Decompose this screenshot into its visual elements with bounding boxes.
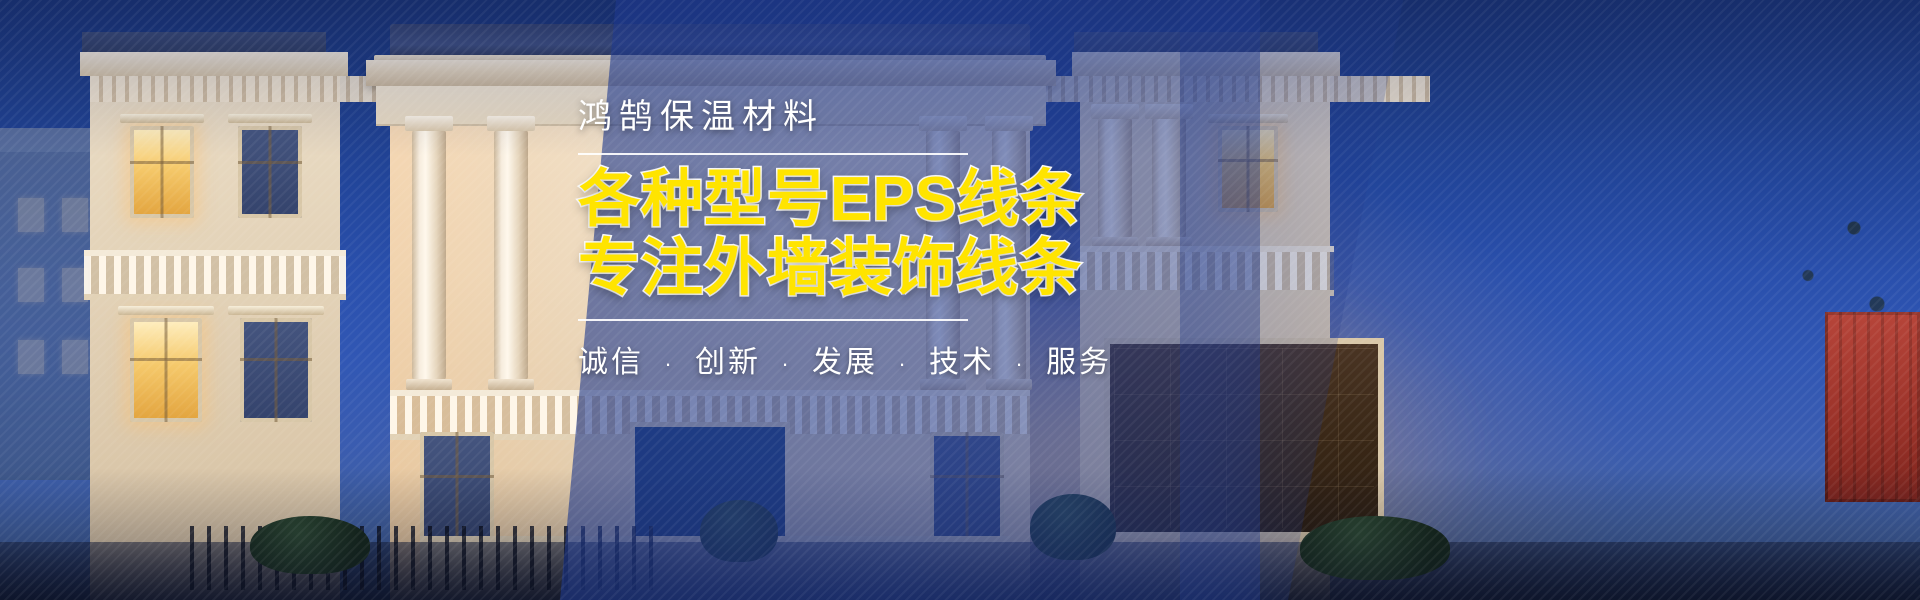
window-mullion: [161, 126, 164, 218]
main-cornice: [366, 60, 1056, 86]
divider-top: [578, 153, 968, 155]
balustrade: [84, 250, 346, 300]
window-mullion: [930, 475, 1004, 478]
window-mullion: [269, 126, 272, 218]
window: [238, 126, 302, 218]
tagline-item: 服务: [1046, 346, 1112, 379]
window-hood: [228, 306, 324, 315]
distant-window: [18, 340, 44, 374]
window-hood: [118, 306, 214, 315]
window: [240, 318, 312, 422]
distant-window: [62, 340, 88, 374]
divider-bottom: [578, 319, 968, 321]
window-hood: [120, 114, 204, 123]
window-mullion: [275, 318, 278, 422]
right-wing-cornice: [1072, 52, 1340, 76]
distant-window: [62, 198, 88, 232]
left-wing-cornice: [80, 52, 348, 76]
headline-line-1: 各种型号EPS线条: [578, 165, 1278, 234]
window: [130, 126, 194, 218]
tagline-separator: ·: [781, 351, 791, 376]
tagline-separator: ·: [1015, 351, 1025, 376]
window-mullion: [165, 318, 168, 422]
left-wing-roof-cap: [82, 32, 326, 54]
tagline: 诚信 · 创新 · 发展 · 技术 · 服务: [578, 337, 1278, 381]
window-hood: [228, 114, 312, 123]
window-mullion: [130, 358, 202, 361]
main-roof: [390, 24, 1030, 58]
tagline-separator: ·: [664, 351, 674, 376]
tagline-item: 创新: [695, 346, 761, 379]
garden-shrub: [1030, 494, 1116, 560]
tree-branch: [1670, 190, 1900, 380]
window-mullion: [420, 475, 494, 478]
garden-shrub: [1300, 516, 1450, 580]
portico-column: [412, 130, 446, 380]
window: [930, 432, 1004, 544]
headline-line-2: 专注外墙装饰线条: [578, 234, 1278, 303]
banner-text-block: 鸿鹄保温材料 各种型号EPS线条 专注外墙装饰线条 诚信 · 创新 · 发展 ·…: [578, 96, 1278, 381]
tagline-item: 发展: [812, 346, 878, 379]
window-mullion: [240, 358, 312, 361]
window: [130, 318, 202, 422]
tagline-item: 诚信: [578, 346, 644, 379]
tagline-separator: ·: [898, 351, 908, 376]
window-mullion: [238, 161, 302, 164]
window-mullion: [130, 161, 194, 164]
portico-column: [494, 130, 528, 380]
promo-banner: 鸿鹄保温材料 各种型号EPS线条 专注外墙装饰线条 诚信 · 创新 · 发展 ·…: [0, 0, 1920, 600]
window-mullion: [966, 432, 969, 544]
distant-window: [18, 198, 44, 232]
right-wing-roof-cap: [1074, 32, 1318, 54]
tagline-item: 技术: [929, 346, 995, 379]
garden-shrub: [250, 516, 370, 574]
distant-window: [18, 268, 44, 302]
garden-shrub: [700, 500, 778, 562]
brand-name: 鸿鹄保温材料: [578, 96, 1278, 139]
